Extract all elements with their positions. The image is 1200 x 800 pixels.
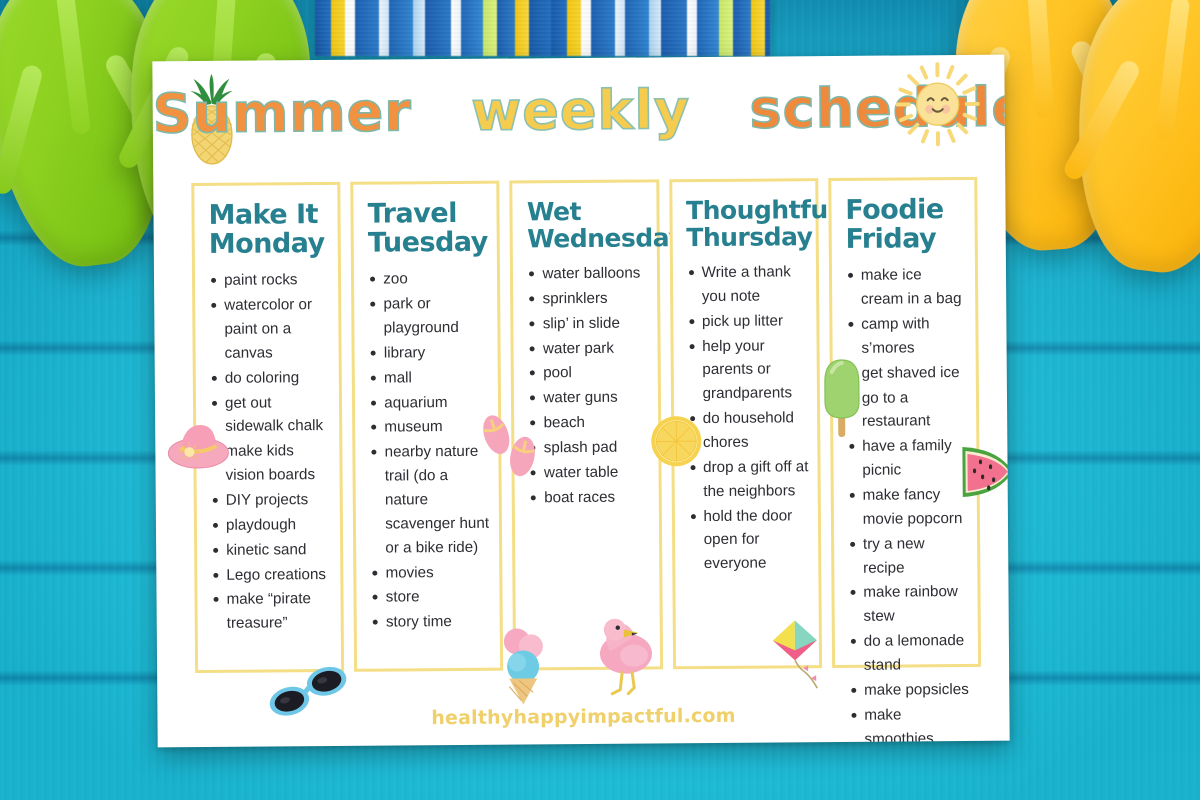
list-item: pool [528, 361, 649, 386]
list-item: make popsicles [849, 678, 970, 703]
activity-list-thursday: Write a thank you note pick up litter he… [683, 260, 811, 576]
list-item: hold the door open for everyone [688, 504, 810, 577]
striped-beach-towel [315, 0, 770, 56]
list-item: paint rocks [209, 268, 330, 293]
list-item: beach [528, 411, 649, 436]
list-item: aquarium [369, 390, 490, 415]
list-item: do a lemonade stand [849, 629, 971, 678]
list-item: mall [369, 365, 490, 390]
list-item: water balloons [527, 261, 648, 286]
list-item: camp with s’mores [846, 312, 968, 361]
list-item: store [371, 585, 492, 610]
day-column-monday: Make ItMonday paint rocks watercolor or … [191, 182, 344, 673]
day-column-friday: FoodieFriday make ice cream in a bag cam… [828, 177, 981, 668]
title-word-2: weekly [471, 83, 690, 139]
list-item: story time [371, 610, 492, 635]
list-item: help your parents or grandparents [687, 334, 809, 407]
list-item: watercolor or paint on a canvas [209, 293, 331, 366]
list-item: make fancy movie popcorn [847, 483, 969, 532]
list-item: get out sidewalk chalk [210, 390, 332, 439]
title-word-1: Summer [153, 85, 413, 141]
list-item: park or playground [368, 292, 490, 341]
activity-list-wednesday: water balloons sprinklers slip’ in slide… [523, 261, 650, 510]
list-item: DIY projects [211, 488, 332, 513]
activity-list-monday: paint rocks watercolor or paint on a can… [205, 268, 333, 636]
list-item: library [369, 341, 490, 366]
list-item: pick up litter [687, 309, 808, 334]
list-item: get shaved ice [847, 361, 968, 386]
list-item: splash pad [529, 435, 650, 460]
list-item: make rainbow stew [848, 580, 970, 629]
list-item: boat races [529, 485, 650, 510]
list-item: nearby nature trail (do a nature scaveng… [370, 440, 492, 560]
list-item: make kids vision boards [210, 439, 332, 488]
list-item: water guns [528, 386, 649, 411]
list-item: have a family picnic [847, 434, 969, 483]
day-title-friday: FoodieFriday [845, 196, 967, 254]
list-item: movies [370, 560, 491, 585]
list-item: make ice cream in a bag [846, 263, 968, 312]
page-title: Summer weekly schedule [153, 81, 1005, 142]
list-item: make “pirate treasure” [211, 587, 333, 636]
day-title-wednesday: WetWednesday [527, 198, 649, 252]
list-item: drop a gift off at the neighbors [688, 455, 810, 504]
day-column-thursday: ThoughtfulThursday Write a thank you not… [669, 178, 822, 669]
list-item: water table [529, 460, 650, 485]
day-title-thursday: ThoughtfulThursday [686, 197, 808, 251]
list-item: playdough [211, 513, 332, 538]
list-item: go to a restaurant [847, 385, 969, 434]
list-item: water park [528, 336, 649, 361]
list-item: slip’ in slide [528, 311, 649, 336]
activity-list-tuesday: zoo park or playground library mall aqua… [364, 267, 492, 635]
list-item: do household chores [688, 406, 810, 455]
list-item: try a new recipe [848, 532, 970, 581]
list-item: museum [369, 415, 490, 440]
day-column-tuesday: TravelTuesday zoo park or playground lib… [350, 181, 503, 672]
sun-icon [894, 61, 981, 148]
list-item: sprinklers [528, 286, 649, 311]
card-header: Summer weekly schedule [152, 55, 1005, 180]
day-title-tuesday: TravelTuesday [368, 200, 490, 258]
activity-list-friday: make ice cream in a bag camp with s’more… [842, 263, 971, 747]
list-item: Write a thank you note [687, 260, 809, 309]
day-title-monday: Make ItMonday [208, 201, 330, 259]
weekly-columns: Make ItMonday paint rocks watercolor or … [191, 177, 981, 673]
list-item: zoo [368, 267, 489, 292]
list-item: Lego creations [211, 562, 332, 587]
day-column-wednesday: WetWednesday water balloons sprinklers s… [510, 179, 663, 670]
list-item: kinetic sand [211, 538, 332, 563]
list-item: do coloring [210, 366, 331, 391]
summer-schedule-card: Summer weekly schedule [152, 55, 1009, 748]
